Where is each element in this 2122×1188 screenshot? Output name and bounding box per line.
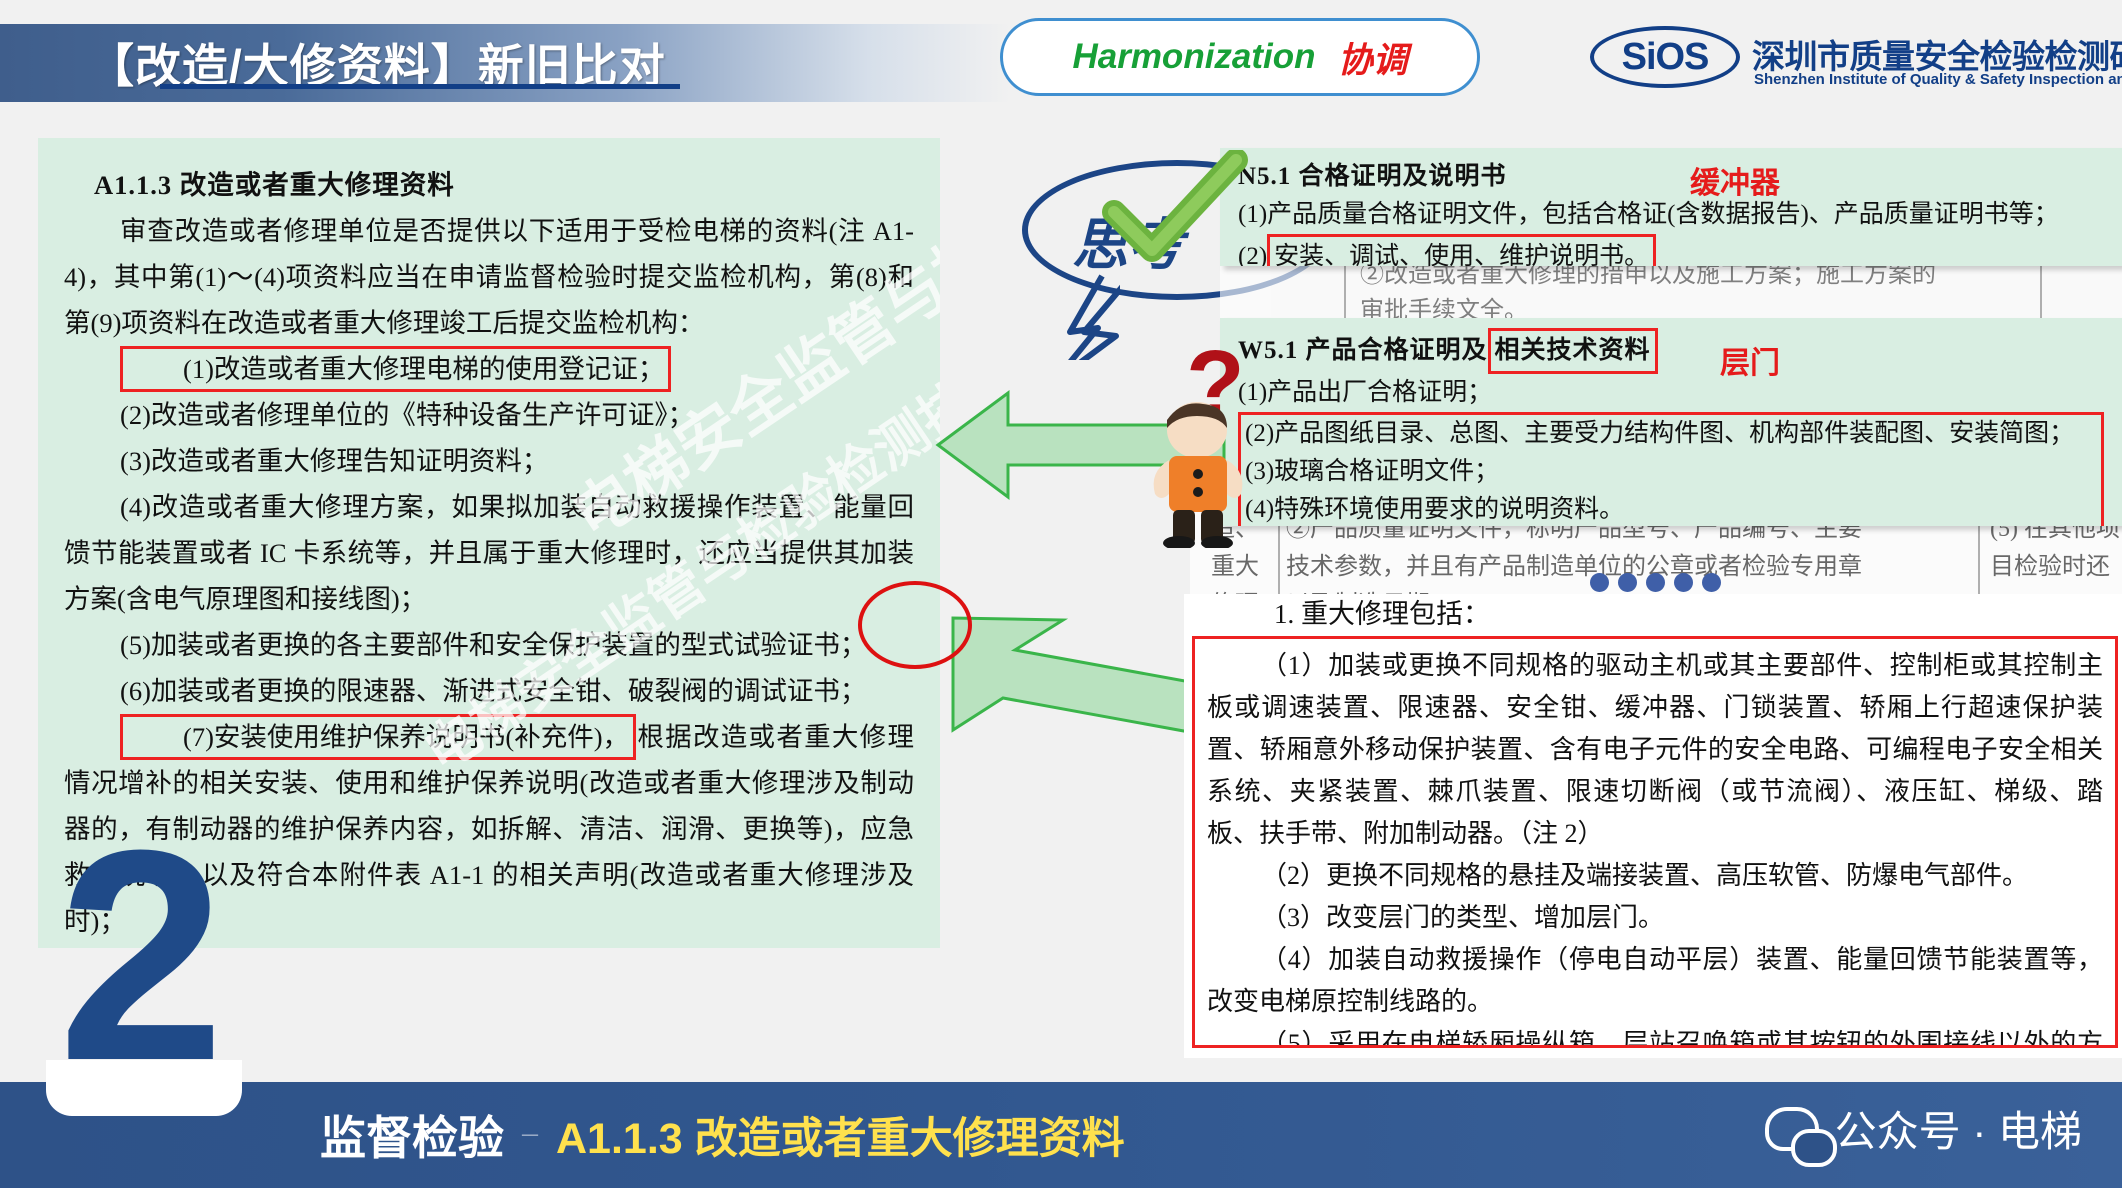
highlight-box-n51-item2: 安装、调试、使用、维护说明书。 — [1267, 234, 1656, 266]
sios-logo-icon: SiOS — [1590, 26, 1740, 88]
major-repair-item-3: （3）改变层门的类型、增加层门。 — [1207, 897, 2103, 939]
annotation-label-landing-door: 层门 — [1720, 338, 1780, 382]
panel-w51-item-3: (3)玻璃合格证明文件； — [1245, 453, 2097, 491]
dot-icon — [1590, 573, 1609, 592]
doc-item-1: (1)改造或者重大修理电梯的使用登记证； — [64, 346, 914, 392]
panel-w51: W5.1 产品合格证明及相关技术资料 (1)产品出厂合格证明； (2)产品图纸目… — [1220, 318, 2122, 526]
footer-title: 监督检验 — [320, 1102, 504, 1168]
ghost-col3-line2: 目检验时还 — [1990, 548, 2120, 586]
major-repair-item-5: （5）采用在电梯轿厢操纵箱、层站召唤箱或其按钮的外围接线以外的方式加装电梯 IC… — [1207, 1023, 2103, 1048]
footer-subtitle: A1.1.3 改造或者重大修理资料 — [556, 1104, 1125, 1166]
wechat-credit: 公众号 · 电梯 — [1765, 1098, 2082, 1159]
wechat-icon — [1765, 1107, 1819, 1151]
highlight-box-item1: (1)改造或者重大修理电梯的使用登记证； — [120, 346, 671, 392]
doc-item-3: (3)改造或者重大修理告知证明资料； — [64, 438, 914, 484]
major-repair-item-2: （2）更换不同规格的悬挂及端接装置、高压软管、防爆电气部件。 — [1207, 855, 2103, 897]
doc-item-5: (5)加装或者更换的各主要部件和安全保护装置的型式试验证书； — [64, 622, 914, 668]
panel-major-repair: 1. 重大修理包括： （1）加装或更换不同规格的驱动主机或其主要部件、控制柜或其… — [1184, 594, 2122, 1058]
doc-item-2: (2)改造或者修理单位的《特种设备生产许可证》； — [64, 392, 914, 438]
wechat-label: 公众号 · 电梯 — [1835, 1098, 2082, 1159]
harmonization-badge: Harmonization 协调 — [1000, 18, 1480, 96]
slide-footer: 监督检验 — A1.1.3 改造或者重大修理资料 公众号 · 电梯 — [0, 1082, 2122, 1188]
highlight-box-major-repair: （1）加装或更换不同规格的驱动主机或其主要部件、控制柜或其控制主板或调速装置、限… — [1192, 636, 2118, 1048]
panel-w51-heading: W5.1 产品合格证明及相关技术资料 — [1238, 328, 2104, 374]
doc-heading: A1.1.3 改造或者重大修理资料 — [64, 162, 914, 208]
confused-person-icon — [1135, 398, 1265, 548]
harmonization-label-en: Harmonization — [1072, 37, 1315, 77]
doc-item-6: (6)加装或者更换的限速器、渐进式安全钳、破裂阀的调试证书； — [64, 668, 914, 714]
panel-w51-item-4: (4)特殊环境使用要求的说明资料。 — [1245, 491, 2097, 526]
panel-w51-item-2: (2)产品图纸目录、总图、主要受力结构件图、机构部件装配图、安装简图； — [1245, 415, 2097, 453]
doc-intro: 审查改造或者修理单位是否提供以下适用于受检电梯的资料(注 A1-4)，其中第(1… — [64, 208, 914, 346]
major-repair-item-4: （4）加装自动救援操作（停电自动平层）装置、能量回馈节能装置等，改变电梯原控制线… — [1207, 939, 2103, 1023]
harmonization-label-cn: 协调 — [1338, 32, 1408, 83]
panel-n51-item-1: (1)产品质量合格证明文件，包括合格证(含数据报告)、产品质量证明书等； — [1238, 196, 2104, 234]
highlight-box-w51-heading: 相关技术资料 — [1488, 328, 1658, 374]
annotation-label-buffer: 缓冲器 — [1690, 158, 1780, 202]
dot-icon — [1618, 573, 1637, 592]
highlight-box-item7: (7)安装使用维护保养说明书(补充件)， — [120, 714, 636, 760]
logo-divider — [160, 84, 680, 89]
dot-icon — [1702, 573, 1721, 592]
highlight-box-w51-items: (2)产品图纸目录、总图、主要受力结构件图、机构部件装配图、安装简图； (3)玻… — [1238, 412, 2104, 526]
ghost-col1-line2: 重大 — [1196, 548, 1274, 586]
slide-number-notch — [46, 1060, 242, 1116]
major-repair-item-1: （1）加装或更换不同规格的驱动主机或其主要部件、控制柜或其控制主板或调速装置、限… — [1207, 645, 2103, 855]
panel-n51-item-2: (2)安装、调试、使用、维护说明书。 — [1238, 234, 2104, 266]
check-icon — [1100, 150, 1250, 270]
panel-w51-heading-plain: W5.1 产品合格证明及 — [1238, 337, 1488, 364]
slide-root: 【改造/大修资料】新旧比对 Harmonization 协调 SiOS 深圳市质… — [0, 0, 2122, 1188]
slide-title-bar: 【改造/大修资料】新旧比对 — [0, 24, 1010, 102]
panel-w51-item-1: (1)产品出厂合格证明； — [1238, 374, 2104, 412]
dot-icon — [1646, 573, 1665, 592]
organization-logo: SiOS 深圳市质量安全检验检测研究院 Shenzhen Institute o… — [1590, 16, 2100, 98]
doc-item-4: (4)改造或者重大修理方案，如果拟加装自动救援操作装置、能量回馈节能装置或者 I… — [64, 484, 914, 622]
logo-name-en: Shenzhen Institute of Quality & Safety I… — [1754, 71, 2122, 88]
decorative-dots — [1590, 573, 1721, 592]
panel-major-repair-title: 1. 重大修理包括： — [1184, 594, 2122, 634]
dot-icon — [1674, 573, 1693, 592]
red-ellipse-annotation — [855, 580, 975, 670]
panel-n51: N5.1 合格证明及说明书 (1)产品质量合格证明文件，包括合格证(含数据报告)… — [1220, 148, 2122, 266]
footer-dash: — — [522, 1126, 538, 1144]
thought-bubble-tail — [1040, 270, 1120, 360]
panel-n51-heading: N5.1 合格证明及说明书 — [1238, 158, 2104, 196]
